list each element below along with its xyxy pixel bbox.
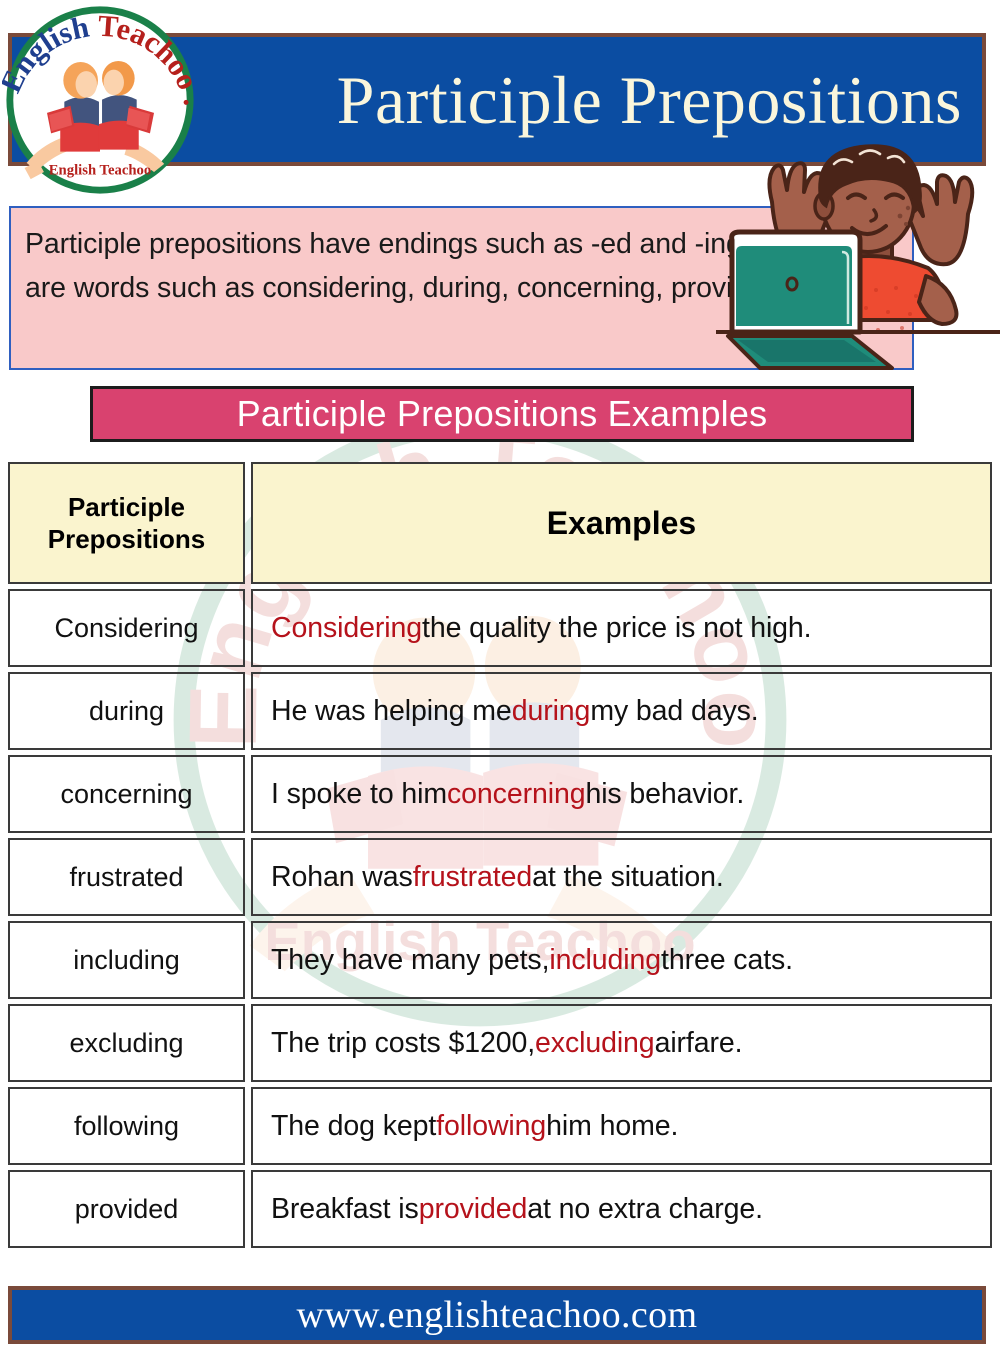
definition-text: Participle prepositions have endings suc…: [25, 222, 896, 311]
svg-text:English Teachoo: English Teachoo: [49, 162, 151, 178]
table-row: excludingThe trip costs $1200, excluding…: [8, 1004, 992, 1082]
example-text-before: I spoke to him: [271, 778, 447, 811]
example-highlight-word: concerning: [447, 778, 585, 811]
cell-participle-preposition: concerning: [8, 755, 245, 833]
table-row: duringHe was helping me during my bad da…: [8, 672, 992, 750]
cell-example-sentence: He was helping me during my bad days.: [251, 672, 992, 750]
example-highlight-word: excluding: [535, 1027, 655, 1060]
example-highlight-word: during: [512, 695, 591, 728]
example-text-after: the quality the price is not high.: [422, 612, 812, 645]
page-title: Participle Prepositions: [337, 66, 962, 134]
examples-banner: Participle Prepositions Examples: [90, 386, 914, 442]
example-highlight-word: frustrated: [413, 861, 532, 894]
brand-logo: English Teachoo .Com: [2, 2, 198, 198]
example-highlight-word: Considering: [271, 612, 422, 645]
examples-banner-label: Participle Prepositions Examples: [237, 396, 768, 432]
cell-example-sentence: The dog kept following him home.: [251, 1087, 992, 1165]
table-row: frustratedRohan was frustrated at the si…: [8, 838, 992, 916]
example-highlight-word: following: [436, 1110, 546, 1143]
table-row: includingThey have many pets, including …: [8, 921, 992, 999]
table-row: concerningI spoke to him concerning his …: [8, 755, 992, 833]
table-row: ConsideringConsidering the quality the p…: [8, 589, 992, 667]
example-text-before: The dog kept: [271, 1110, 436, 1143]
column-header-participle-prepositions: Participle Prepositions: [8, 462, 245, 584]
example-text-after: my bad days.: [590, 695, 758, 728]
cell-participle-preposition: including: [8, 921, 245, 999]
cell-participle-preposition: provided: [8, 1170, 245, 1248]
column-header-examples: Examples: [251, 462, 992, 584]
cell-example-sentence: I spoke to him concerning his behavior.: [251, 755, 992, 833]
footer-banner: www.englishteachoo.com: [8, 1286, 986, 1344]
cell-example-sentence: They have many pets, including three cat…: [251, 921, 992, 999]
cell-participle-preposition: frustrated: [8, 838, 245, 916]
examples-table: Participle Prepositions Examples Conside…: [8, 462, 992, 1253]
website-url: www.englishteachoo.com: [296, 1296, 697, 1334]
example-highlight-word: including: [549, 944, 661, 977]
example-text-after: his behavior.: [585, 778, 744, 811]
cell-example-sentence: The trip costs $1200, excluding airfare.: [251, 1004, 992, 1082]
infographic-page: English Teachoo English Teachoo Particip…: [0, 0, 1000, 1350]
definition-box: Participle prepositions have endings suc…: [9, 206, 914, 370]
example-text-after: three cats.: [661, 944, 793, 977]
table-row: providedBreakfast is provided at no extr…: [8, 1170, 992, 1248]
cell-example-sentence: Rohan was frustrated at the situation.: [251, 838, 992, 916]
cell-participle-preposition: Considering: [8, 589, 245, 667]
table-row: followingThe dog kept following him home…: [8, 1087, 992, 1165]
example-text-after: at no extra charge.: [527, 1193, 763, 1226]
cell-participle-preposition: during: [8, 672, 245, 750]
table-body: ConsideringConsidering the quality the p…: [8, 589, 992, 1248]
table-header-row: Participle Prepositions Examples: [8, 462, 992, 584]
cell-example-sentence: Considering the quality the price is not…: [251, 589, 992, 667]
example-text-before: The trip costs $1200,: [271, 1027, 535, 1060]
example-text-before: Rohan was: [271, 861, 413, 894]
example-text-before: They have many pets,: [271, 944, 549, 977]
example-text-before: Breakfast is: [271, 1193, 419, 1226]
example-text-after: at the situation.: [532, 861, 724, 894]
example-text-after: airfare.: [655, 1027, 743, 1060]
cell-participle-preposition: excluding: [8, 1004, 245, 1082]
cell-example-sentence: Breakfast is provided at no extra charge…: [251, 1170, 992, 1248]
example-text-before: He was helping me: [271, 695, 512, 728]
cell-participle-preposition: following: [8, 1087, 245, 1165]
example-text-after: him home.: [546, 1110, 678, 1143]
example-highlight-word: provided: [419, 1193, 528, 1226]
